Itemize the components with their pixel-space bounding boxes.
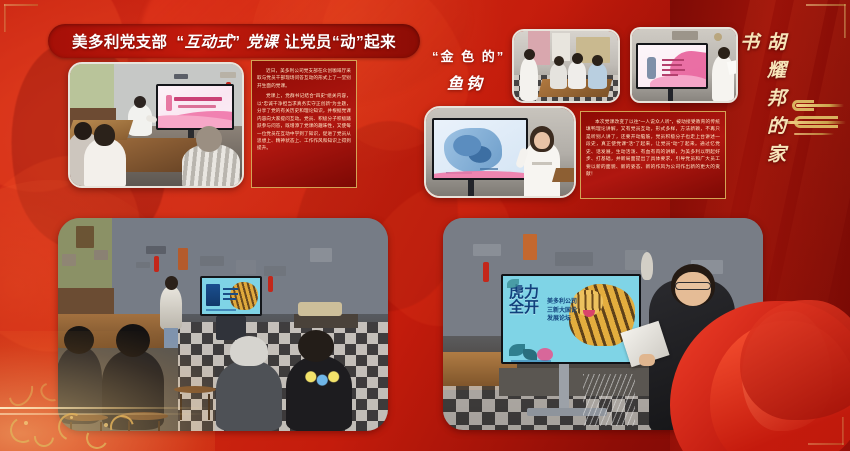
shelf-decor [236, 260, 256, 274]
ornament-dot [104, 423, 108, 427]
figure-head [524, 49, 535, 60]
shelf-decor [672, 31, 698, 40]
shelf-decor [310, 248, 332, 262]
page-title: 美多利党支部“互动式”党课让党员“动”起来 [72, 30, 396, 52]
ppt-body-text [662, 74, 678, 76]
shirt-logo [532, 162, 552, 165]
bowling-pin-decor [641, 252, 653, 280]
poster-title-bar: 美多利党支部“互动式”党课让党员“动”起来 [48, 24, 420, 58]
speaker-head [165, 276, 178, 290]
vertical-book-title: 胡耀邦的家书 [734, 32, 788, 192]
photo-lecture-cafe [68, 62, 244, 188]
ppt-wave [650, 75, 706, 87]
title-quote-open: “ [176, 34, 184, 51]
ppt-sub-text [178, 105, 216, 108]
seated-figure [568, 61, 586, 89]
lantern-icon [268, 276, 273, 292]
photo-girl-map [424, 106, 576, 198]
screen-sub-text [223, 293, 238, 295]
audience-head [196, 126, 222, 152]
tiger-slide: 虎力全开 美多利公司 三新大国论 发展论坛 [503, 276, 639, 362]
screen-tiger-small [200, 276, 262, 316]
screen-subtitle-line1: 美多利公司 [547, 298, 577, 307]
man-hand [639, 354, 655, 366]
section-label-line1: “金 色 的” [432, 46, 505, 65]
screen-blue-map [432, 118, 528, 180]
audience-head-cap [230, 336, 268, 366]
figure-head [554, 56, 564, 66]
ppt-accent [166, 95, 172, 111]
shelf-decor [178, 248, 188, 270]
shelf-decor [200, 256, 224, 266]
ppt-body-text [662, 64, 682, 66]
tiger-illustration [230, 282, 258, 310]
screen-subtitle-line2: 三新大国论 [547, 307, 577, 316]
article-paragraph: 近日，美多利公司党支部在众创咖啡厅采取与党员干部现场问答互动的形式上了一堂别开生… [257, 67, 351, 89]
snack-items [298, 302, 342, 316]
figure-head [592, 55, 603, 66]
title-highlight-interactive: 互动式 [185, 34, 233, 51]
audience-head [74, 122, 92, 140]
side-table [294, 314, 358, 328]
shelf-decor [523, 234, 537, 260]
text-panel-right-article: 本次党课改变了以往“一人说众人听”，被动接受教育的传统填鸭理论讲解，又有党员互动… [580, 111, 726, 199]
speaker-figure [160, 286, 182, 330]
shelf-decor [136, 262, 150, 268]
screen-tiger: 虎力全开 美多利公司 三新大国论 发展论坛 [501, 274, 641, 364]
lantern-icon [714, 33, 722, 41]
title-segment-org: 美多利党支部 [72, 34, 167, 51]
shelf-decor [62, 254, 76, 266]
ppt-body-text [662, 69, 685, 71]
presenter-head [718, 47, 730, 59]
gold-cloud-icon [794, 133, 834, 135]
poster-canvas: 美多利党支部“互动式”党课让党员“动”起来 [0, 0, 850, 451]
map-illustration [444, 128, 502, 172]
seated-figure [588, 63, 607, 89]
tv-stand [468, 180, 474, 198]
figure-head [572, 53, 583, 64]
gold-cloud-icon [784, 121, 846, 124]
audience-head [298, 330, 334, 362]
wood-table [552, 168, 576, 182]
shelf-decor [174, 74, 188, 79]
lantern-icon [483, 262, 489, 282]
seated-figure [550, 63, 567, 89]
ornament-beam [0, 407, 210, 409]
cable-bundle [583, 374, 635, 426]
title-highlight-move: 动 [340, 34, 356, 51]
ppt-figure-art [647, 57, 656, 79]
screen-subtitle-line3: 发展论坛 [547, 315, 577, 324]
article-paragraph: 党课上，党群书记结合“四史”组关内容，以“忠诚干净担当求真务实守正创新”为主题，… [257, 92, 351, 152]
ornament-dot [70, 416, 73, 419]
shelf-decor [473, 244, 501, 256]
map-label [480, 168, 498, 170]
tv-stand [559, 364, 569, 414]
article-paragraph: 本次党课改变了以往“一人说众人听”，被动接受教育的传统填鸭理论讲解，又有党员互动… [586, 118, 720, 177]
title-segment-lesson: 党课 [246, 34, 278, 51]
screen-sub-text [223, 288, 238, 290]
screen-sub-text [223, 298, 236, 300]
ornament-beam [0, 413, 210, 415]
screen-pink-ppt [156, 84, 234, 130]
title-quote-close: ” [232, 34, 240, 51]
gold-corner-mark [788, 389, 844, 445]
screen-title-text: 虎力全开 [509, 286, 543, 316]
bag-emoji-print [304, 368, 342, 390]
shelf-decor [146, 246, 166, 254]
title-segment-rise: 起来 [364, 34, 396, 51]
screen-footer-text [511, 360, 551, 362]
ppt-title-text [174, 97, 222, 101]
title-quote-open-2: “ [332, 34, 340, 51]
shelf-decor [220, 72, 236, 78]
tv-stand [668, 89, 673, 103]
presenter-head [134, 96, 146, 108]
screen-footer-text [206, 309, 236, 311]
gold-cloud-icon [796, 104, 844, 107]
text-panel-left-article: 近日，美多利公司党支部在众创咖啡厅采取与党员干部现场问答互动的形式上了一堂别开生… [251, 60, 357, 188]
ppt-wave [434, 171, 526, 178]
gold-ornament-band [0, 331, 215, 451]
audience-head [94, 124, 115, 146]
standing-figure [520, 57, 538, 101]
ppt-body-text [662, 59, 684, 61]
leaf-decor [523, 349, 537, 360]
ornament-dot [24, 421, 28, 425]
shelf-decor [76, 226, 94, 248]
title-quote-close-2: ” [356, 34, 364, 51]
glasses-icon [675, 282, 711, 290]
photo-presenter-screen [630, 27, 738, 103]
shelf-decor [94, 250, 108, 260]
shelf-decor [555, 252, 593, 266]
photo-standing-group [512, 29, 620, 103]
screen-title-text [206, 284, 220, 306]
title-segment-members: 让党员 [284, 34, 332, 51]
section-label-line2: 鱼钩 [447, 70, 485, 94]
screen-pink-ppt [636, 43, 708, 89]
audience-figure [216, 360, 282, 431]
lantern-icon [154, 256, 159, 272]
gold-corner-mark [790, 4, 846, 60]
face [534, 132, 550, 149]
shelf-decor [264, 266, 286, 276]
